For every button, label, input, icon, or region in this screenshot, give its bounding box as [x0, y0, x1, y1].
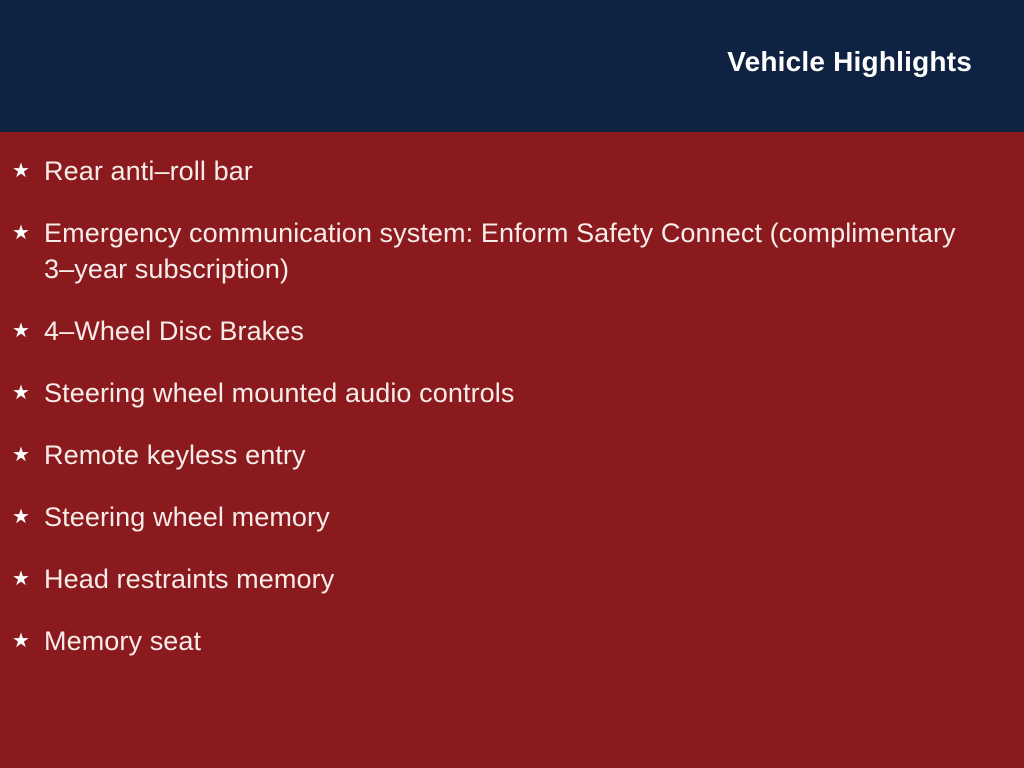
list-item-label: 4–Wheel Disc Brakes	[44, 313, 984, 349]
list-item-label: Steering wheel mounted audio controls	[44, 375, 984, 411]
vehicle-highlights-list: ★ Rear anti–roll bar ★ Emergency communi…	[0, 132, 1024, 768]
list-item-label: Steering wheel memory	[44, 499, 984, 535]
star-bullet-icon: ★	[12, 375, 44, 411]
star-bullet-icon: ★	[12, 153, 44, 189]
list-item-label: Memory seat	[44, 623, 984, 659]
list-item: ★ Memory seat	[0, 623, 1024, 659]
star-bullet-icon: ★	[12, 437, 44, 473]
list-item: ★ 4–Wheel Disc Brakes	[0, 313, 1024, 349]
star-bullet-icon: ★	[12, 215, 44, 251]
list-item-label: Head restraints memory	[44, 561, 984, 597]
list-item: ★ Remote keyless entry	[0, 437, 1024, 473]
list-item: ★ Rear anti–roll bar	[0, 153, 1024, 189]
star-bullet-icon: ★	[12, 313, 44, 349]
list-item-label: Rear anti–roll bar	[44, 153, 984, 189]
list-item: ★ Steering wheel memory	[0, 499, 1024, 535]
page-title: Vehicle Highlights	[727, 46, 972, 78]
list-item: ★ Head restraints memory	[0, 561, 1024, 597]
star-bullet-icon: ★	[12, 623, 44, 659]
star-bullet-icon: ★	[12, 561, 44, 597]
list-item: ★ Emergency communication system: Enform…	[0, 215, 1024, 287]
star-bullet-icon: ★	[12, 499, 44, 535]
presentation-slide: Vehicle Highlights ★ Rear anti–roll bar …	[0, 0, 1024, 768]
list-item: ★ Steering wheel mounted audio controls	[0, 375, 1024, 411]
list-item-label: Emergency communication system: Enform S…	[44, 215, 984, 287]
list-item-label: Remote keyless entry	[44, 437, 984, 473]
